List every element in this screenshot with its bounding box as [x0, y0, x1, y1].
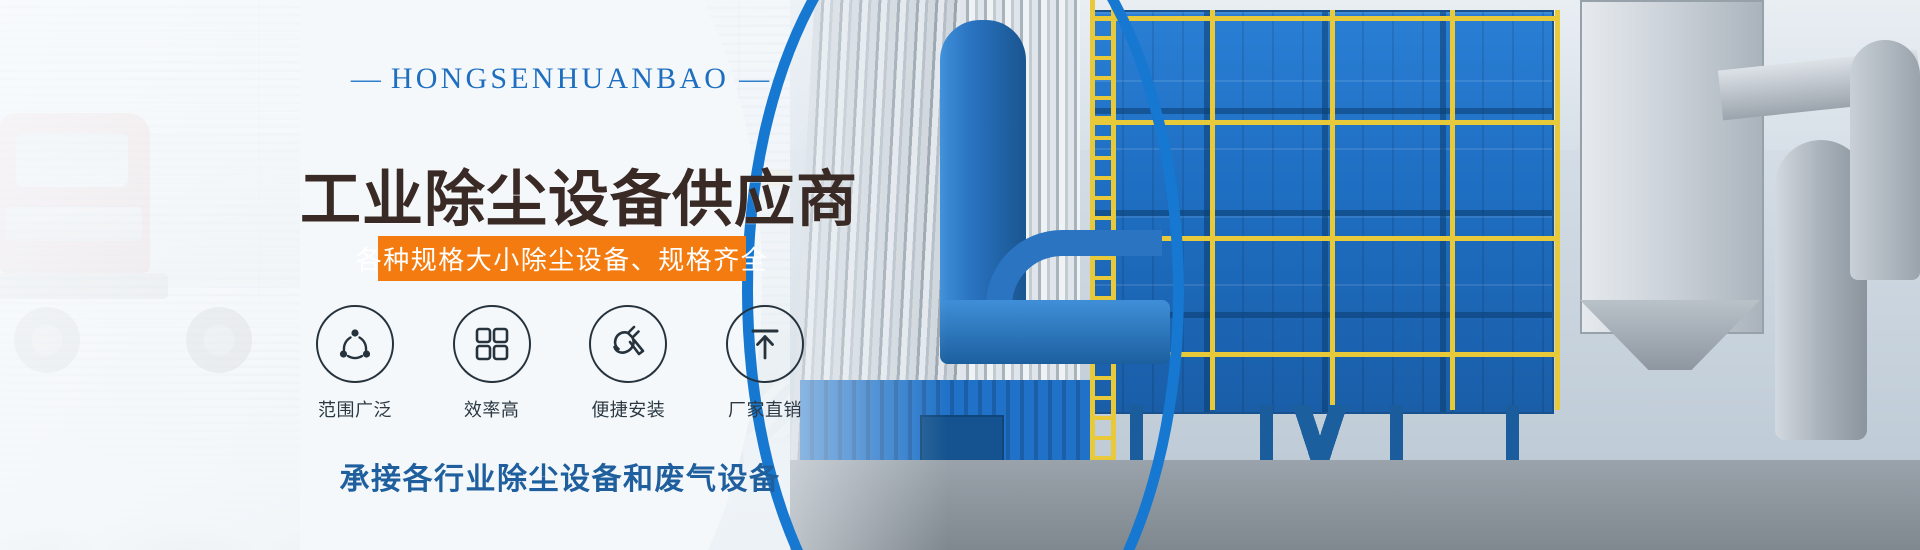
feature-label: 范围广泛 — [318, 396, 392, 422]
feature-label: 便捷安装 — [591, 396, 665, 422]
subtitle-highlight-bar: 各种规格大小除尘设备、规格齐全 — [378, 236, 746, 281]
brand-name-latin: HONGSENHUANBAO — [391, 62, 729, 95]
feature-list: 范围广泛 效率高 — [300, 305, 820, 422]
up-arrow-icon — [746, 325, 784, 363]
feature-icon-circle — [589, 305, 667, 383]
feature-item[interactable]: 便捷安装 — [573, 305, 683, 422]
em-dash-left-icon: — — [341, 62, 391, 95]
feature-label: 厂家直销 — [728, 396, 802, 422]
wrench-icon — [608, 324, 648, 364]
page-title: 工业除尘设备供应商 — [300, 149, 820, 238]
tagline: 承接各行业除尘设备和废气设备 — [300, 454, 820, 498]
feature-icon-circle — [316, 305, 394, 383]
banner-content: —HONGSENHUANBAO— 工业除尘设备供应商 各种规格大小除尘设备、规格… — [0, 0, 900, 550]
feature-item[interactable]: 范围广泛 — [300, 305, 410, 422]
subtitle-text: 各种规格大小除尘设备、规格齐全 — [356, 240, 769, 277]
share-network-icon — [335, 324, 375, 364]
grid-squares-icon — [473, 325, 511, 363]
feature-icon-circle — [726, 305, 804, 383]
hero-banner: 13132 7001 — [0, 0, 1920, 550]
brand-eyebrow: —HONGSENHUANBAO— — [300, 62, 820, 96]
feature-item[interactable]: 厂家直销 — [710, 305, 820, 422]
em-dash-right-icon: — — [729, 62, 779, 95]
feature-icon-circle — [453, 305, 531, 383]
feature-item[interactable]: 效率高 — [437, 305, 547, 422]
feature-label: 效率高 — [464, 396, 520, 422]
